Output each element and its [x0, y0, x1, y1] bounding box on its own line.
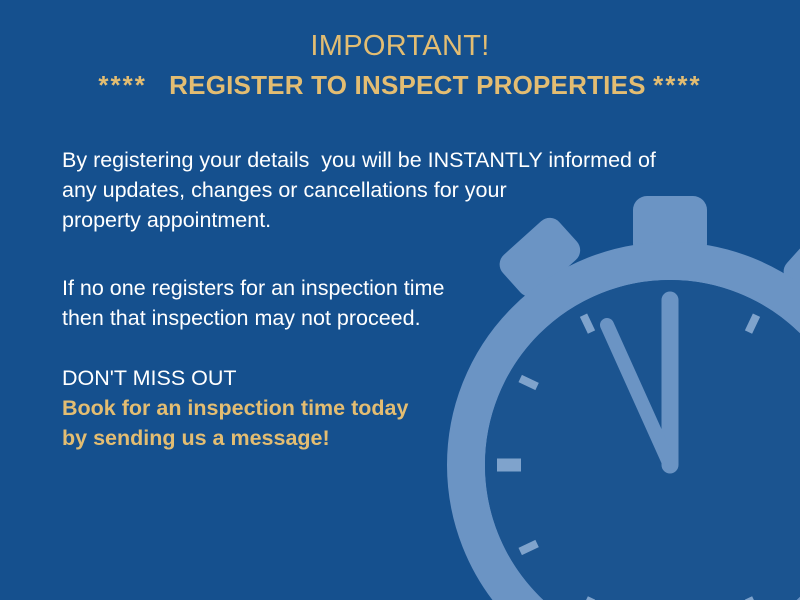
paragraph-1-line-3: property appointment. [62, 205, 742, 235]
slide-canvas: IMPORTANT! **** REGISTER TO INSPECT PROP… [0, 0, 800, 600]
subtitle-text: REGISTER TO INSPECT PROPERTIES [169, 70, 646, 100]
paragraph-call-to-action: DON'T MISS OUT Book for an inspection ti… [62, 363, 742, 453]
paragraph-1-line-1: By registering your details you will be … [62, 145, 742, 175]
paragraph-1-line-2: any updates, changes or cancellations fo… [62, 175, 742, 205]
cta-dont-miss-out: DON'T MISS OUT [62, 363, 742, 393]
paragraph-2-line-1: If no one registers for an inspection ti… [62, 273, 742, 303]
page-subtitle: **** REGISTER TO INSPECT PROPERTIES **** [0, 66, 800, 104]
cta-send-message: by sending us a message! [62, 423, 742, 453]
paragraph-2-line-2: then that inspection may not proceed. [62, 303, 742, 333]
paragraph-registering: By registering your details you will be … [62, 145, 742, 235]
heading-group: IMPORTANT! **** REGISTER TO INSPECT PROP… [0, 26, 800, 104]
slide-content: IMPORTANT! **** REGISTER TO INSPECT PROP… [0, 0, 800, 600]
subtitle-spacer [154, 70, 169, 100]
stars-left: **** [98, 70, 146, 100]
cta-book-inspection: Book for an inspection time today [62, 393, 742, 423]
page-title: IMPORTANT! [0, 26, 800, 66]
paragraph-no-registration: If no one registers for an inspection ti… [62, 273, 742, 333]
stars-right: **** [653, 70, 701, 100]
